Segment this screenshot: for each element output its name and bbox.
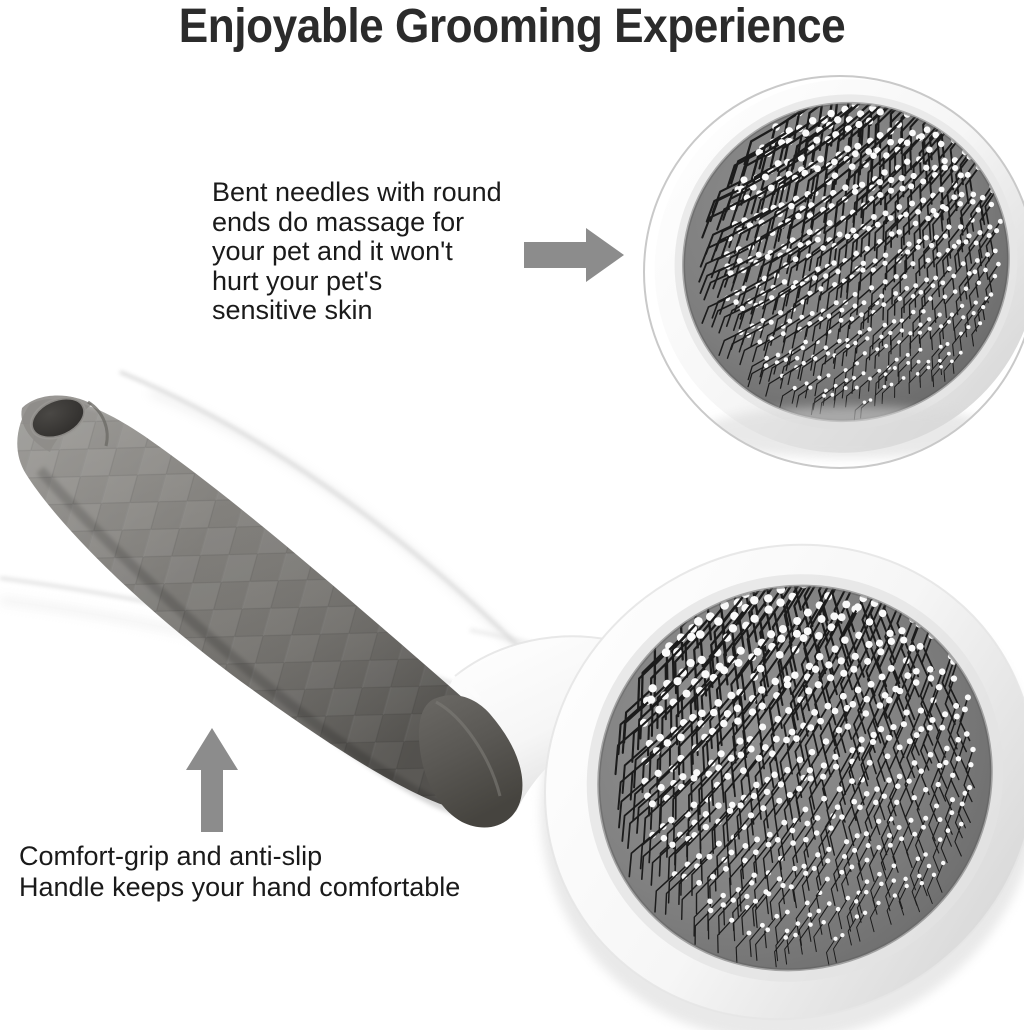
arrow-right-icon [524, 226, 624, 284]
callout-comfort-grip: Comfort-grip and anti-slip Handle keeps … [19, 841, 489, 903]
infographic-canvas: Enjoyable Grooming Experience Bent needl… [0, 0, 1024, 1030]
callout-bent-needles: Bent needles with round ends do massage … [212, 178, 542, 326]
arrow-up-icon [186, 728, 238, 832]
page-title: Enjoyable Grooming Experience [41, 2, 983, 52]
brush-head-closeup-inset [602, 26, 1024, 507]
grooming-brush [17, 390, 1024, 1030]
